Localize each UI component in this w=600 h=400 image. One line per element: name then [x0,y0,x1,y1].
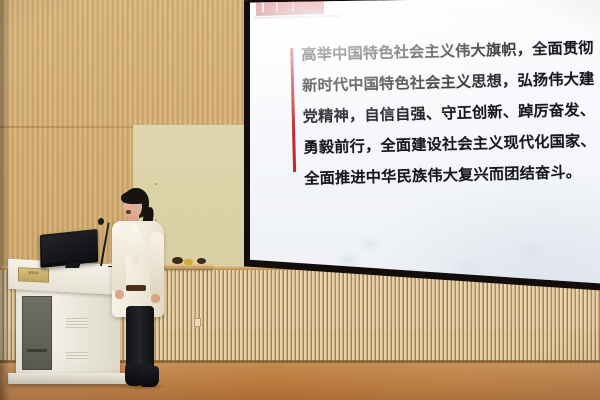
presenter-hair-front [121,191,148,204]
presenter-arm-right [150,232,164,298]
presenter [104,188,178,393]
podium-vent [66,318,88,328]
slide-body-text: 高举中国特色社会主义伟大旗帜，全面贯彻新时代中国特色社会主义思想，弘扬伟大建党精… [301,33,600,195]
presenter-belt [126,285,146,291]
presenter-hand-right [151,294,160,303]
podium-vent-lower [66,352,88,361]
podium-plaque-text: 报告席 [19,268,48,276]
podium-plaque: 报告席 [18,267,49,283]
slide-red-accent-bar [290,48,296,172]
ledge-object-dark-2 [197,258,206,264]
lecture-hall-photo: 高举中国特色社会主义伟大旗帜，全面贯彻新时代中国特色社会主义思想，弘扬伟大建党精… [0,0,600,400]
wall-outlet [194,318,201,327]
presenter-arm-left [112,232,126,294]
presenter-hand-left [115,290,124,299]
monitor-stand [65,262,81,268]
podium-front-panel [22,296,52,370]
slide-red-banner [256,0,324,16]
presenter-leg-gap [139,320,141,368]
monitor-screen [42,231,96,264]
presenter-mouth [126,210,131,214]
ledge-object-amber [184,259,193,265]
presenter-boot-right [139,366,159,387]
slide-text-block: 高举中国特色社会主义伟大旗帜，全面贯彻新时代中国特色社会主义思想，弘扬伟大建党精… [290,33,600,195]
projection-screen-surface: 高举中国特色社会主义伟大旗帜，全面贯彻新时代中国特色社会主义思想，弘扬伟大建党精… [250,0,600,294]
